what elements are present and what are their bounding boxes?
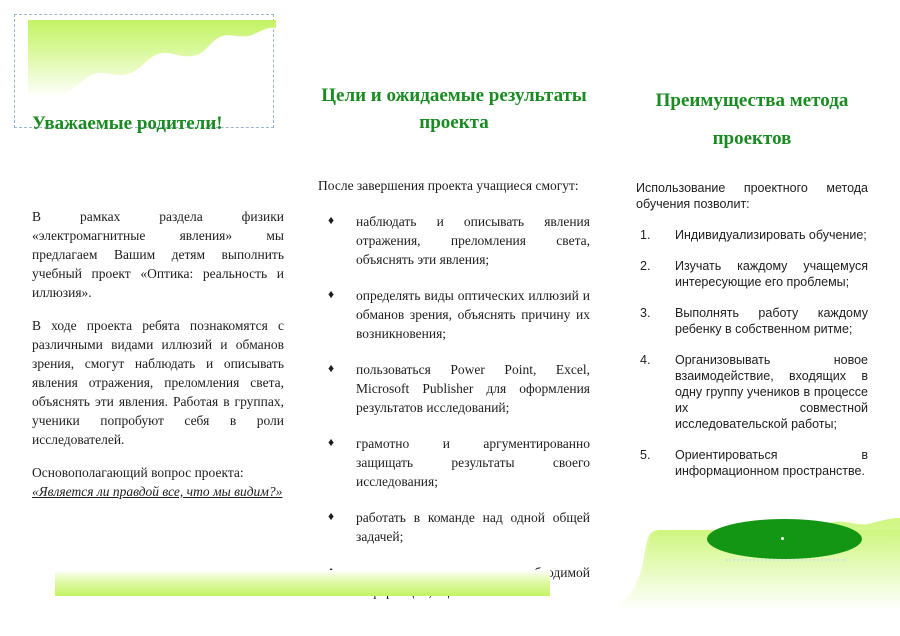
left-panel-question-quote: «Является ли правдой все, что мы видим?»	[32, 482, 284, 501]
list-item: ♦ определять виды оптических иллюзий и о…	[318, 286, 590, 343]
right-panel: Преимущества метода проектов Использован…	[636, 82, 868, 479]
left-panel: Уважаемые родители! В рамках раздела физ…	[32, 110, 284, 501]
list-item: 5. Ориентироваться в информационном прос…	[636, 447, 868, 479]
list-item-text: работать в команде над одной общей задач…	[356, 510, 590, 544]
list-item: 4. Организовывать новое взаимодействие, …	[636, 352, 868, 432]
green-wave-top-decoration	[28, 20, 276, 98]
list-item-number: 1.	[640, 227, 650, 243]
right-panel-intro: Использование проектного метода обучения…	[636, 180, 868, 212]
list-item: 3. Выполнять работу каждому ребенку в со…	[636, 305, 868, 337]
list-item-number: 4.	[640, 352, 650, 368]
list-item-text: грамотно и аргументированно защищать рез…	[356, 436, 590, 489]
diamond-bullet-icon: ♦	[328, 359, 334, 378]
list-item-text: Организовывать новое взаимодействие, вхо…	[675, 353, 868, 431]
list-item: 1. Индивидуализировать обучение;	[636, 227, 868, 243]
dark-green-ellipse-decoration	[707, 519, 862, 559]
list-item: ♦ грамотно и аргументированно защищать р…	[318, 434, 590, 491]
list-item-text: Изучать каждому учащемуся интересующие е…	[675, 259, 868, 289]
left-panel-heading: Уважаемые родители!	[32, 110, 284, 137]
left-panel-paragraph-3: Основополагающий вопрос проекта:	[32, 463, 284, 482]
list-item-number: 3.	[640, 305, 650, 321]
middle-panel-intro: После завершения проекта учащиеся смогут…	[318, 176, 590, 195]
list-item-text: Ориентироваться в информационном простра…	[675, 448, 868, 478]
middle-panel: Цели и ожидаемые результаты проекта Посл…	[318, 82, 590, 601]
diamond-bullet-icon: ♦	[328, 433, 334, 452]
list-item-text: пользоваться Power Point, Excel, Microso…	[356, 362, 590, 415]
ellipse-center-dot-icon	[781, 537, 784, 540]
list-item-text: наблюдать и описывать явления отражения,…	[356, 214, 590, 267]
left-panel-paragraph-2: В ходе проекта ребята познакомятся с раз…	[32, 316, 284, 449]
green-band-bottom-decoration	[55, 570, 550, 596]
dotted-line-decoration	[726, 559, 846, 563]
diamond-bullet-icon: ♦	[328, 211, 334, 230]
diamond-bullet-icon: ♦	[328, 507, 334, 526]
list-item: ♦ наблюдать и описывать явления отражени…	[318, 212, 590, 269]
list-item-number: 5.	[640, 447, 650, 463]
list-item-text: Индивидуализировать обучение;	[675, 228, 867, 242]
list-item: ♦ работать в команде над одной общей зад…	[318, 508, 590, 546]
middle-panel-heading: Цели и ожидаемые результаты проекта	[318, 82, 590, 136]
left-panel-paragraph-1: В рамках раздела физики «электромагнитны…	[32, 207, 284, 302]
list-item: 2. Изучать каждому учащемуся интересующи…	[636, 258, 868, 290]
list-item-text: Выполнять работу каждому ребенку в собст…	[675, 306, 868, 336]
list-item-text: определять виды оптических иллюзий и обм…	[356, 288, 590, 341]
right-panel-heading: Преимущества метода проектов	[636, 82, 868, 158]
diamond-bullet-icon: ♦	[328, 285, 334, 304]
advantages-list: 1. Индивидуализировать обучение; 2. Изуч…	[636, 227, 868, 479]
list-item-number: 2.	[640, 258, 650, 274]
objectives-list: ♦ наблюдать и описывать явления отражени…	[318, 212, 590, 601]
brochure-page: Уважаемые родители! В рамках раздела физ…	[0, 0, 900, 636]
list-item: ♦ пользоваться Power Point, Excel, Micro…	[318, 360, 590, 417]
